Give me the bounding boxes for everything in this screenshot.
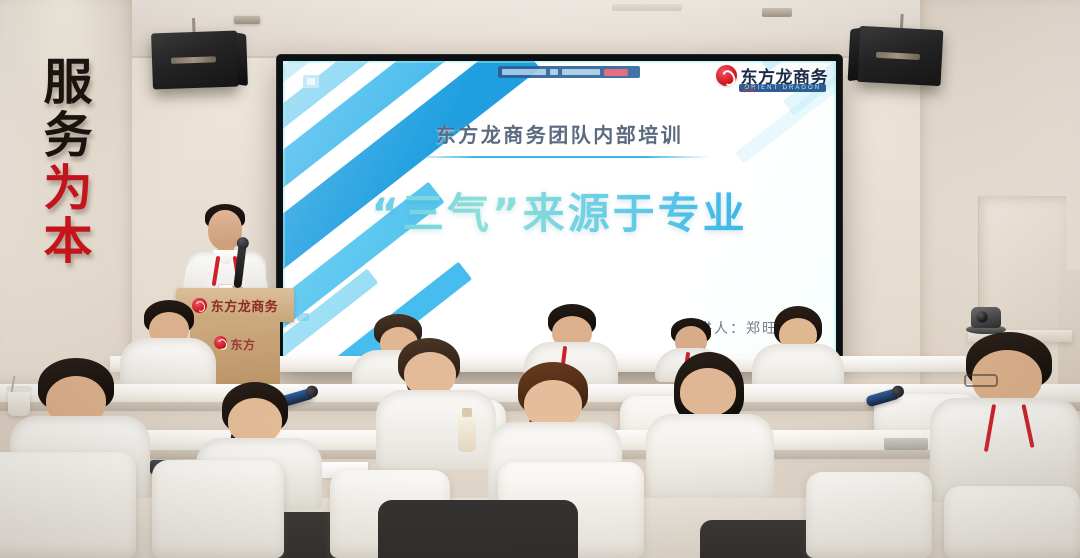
slide-left-marker-icon (297, 313, 309, 321)
slide-main-title: “三气”来源于专业 (283, 180, 836, 241)
slide-divider-rule (410, 156, 710, 158)
dragon-logo-icon (716, 65, 737, 86)
keyboard-on-desk (884, 438, 928, 450)
wall-char-2: 务 (43, 111, 92, 162)
wall-char-4: 本 (43, 217, 92, 268)
camera-lens-icon (976, 311, 988, 323)
toolbar-separator-icon (550, 69, 558, 75)
ptz-conference-camera (966, 304, 1006, 334)
speaker-grille (171, 56, 216, 64)
slide-heading-block: 东方龙商务团队内部培训 “三气”来源于专业 (283, 119, 836, 241)
seated-person-trousers-center (378, 500, 578, 558)
ceiling-speaker-left (151, 31, 239, 90)
water-bottle (458, 416, 476, 452)
speaker-side-panel (236, 32, 248, 85)
slide-subtitle: 东方龙商务团队内部培训 (283, 119, 836, 148)
ceiling-vent (612, 4, 682, 11)
dragon-logo-icon (214, 336, 227, 349)
ceiling-light-fixture-left (234, 16, 260, 24)
speaker-side-panel (848, 28, 861, 81)
speaker-cabinet (857, 26, 944, 86)
ceiling-speaker-right (857, 26, 944, 86)
chair-6 (944, 486, 1080, 558)
toolbar-segment-title (502, 69, 546, 75)
speaker-grille (876, 51, 920, 59)
torso (646, 414, 774, 498)
attendee-front-5 (930, 332, 1080, 502)
wall-char-1: 服 (43, 58, 92, 109)
bottle-cap (462, 408, 472, 417)
ceiling-light-fixture-right (762, 8, 792, 17)
attendee-front-4 (646, 352, 774, 494)
toolbar-live-badge (604, 69, 628, 76)
head (680, 368, 736, 416)
chair-2 (152, 460, 284, 558)
chair-1 (0, 452, 136, 558)
slide-stream-toolbar (498, 66, 640, 78)
slide-brand-logo: 东方龙商务 ORIENT DRAGON 中国 (716, 63, 829, 88)
training-room-photo: 服 务 为 本 (0, 0, 1080, 558)
torso (376, 390, 496, 470)
lectern-brand-text-front: 东方 (230, 336, 255, 353)
wall-char-3: 为 (43, 164, 92, 215)
head (524, 380, 582, 428)
slide-corner-icon (303, 75, 319, 88)
speaker-cabinet (151, 31, 239, 90)
wall-calligraphy: 服 务 为 本 (30, 58, 106, 268)
attendee-front-2b (376, 338, 496, 468)
chair-5 (806, 472, 932, 558)
eyeglasses-icon (964, 374, 998, 387)
lectern-brand-text: 东方龙商务 (211, 296, 279, 315)
toolbar-segment-platform (562, 69, 600, 75)
brand-cn-small: 中国 (742, 85, 756, 94)
